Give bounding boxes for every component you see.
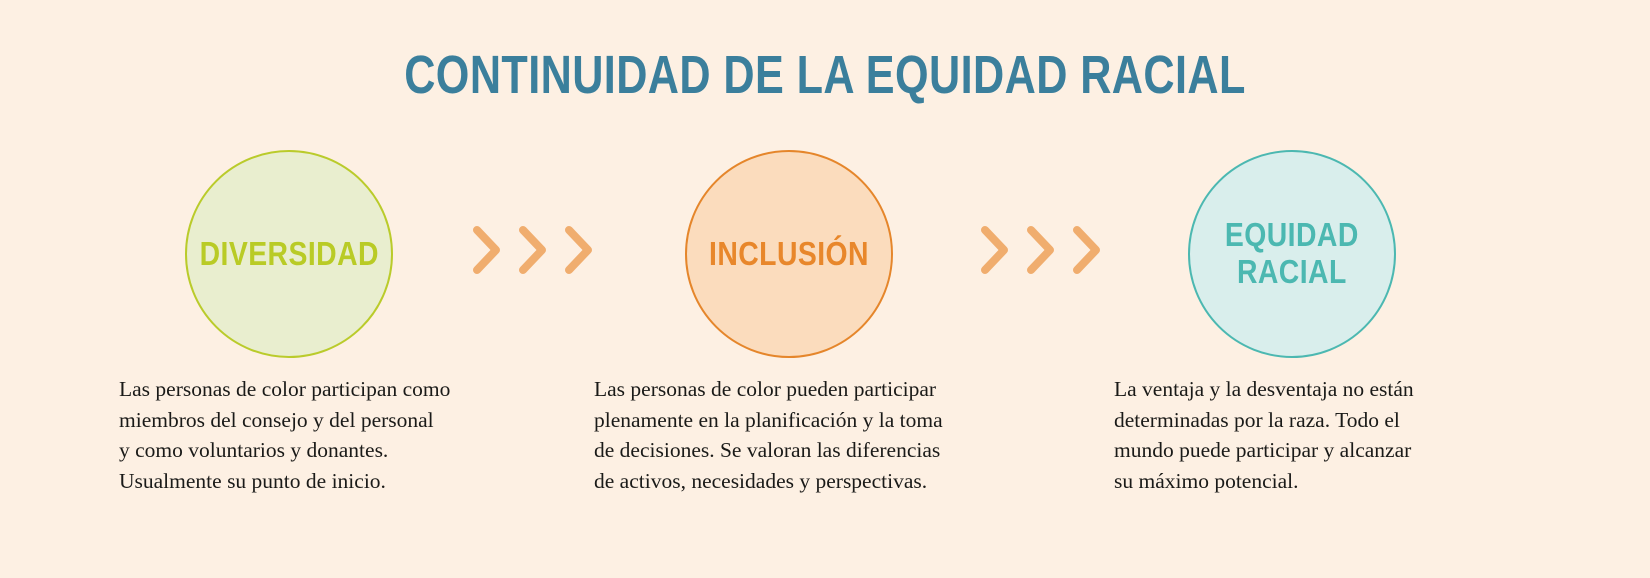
stage-label-inclusion: INCLUSIÓN: [709, 236, 869, 273]
page-title: CONTINUIDAD DE LA EQUIDAD RACIAL: [165, 48, 1485, 102]
stage-label-diversidad: DIVERSIDAD: [199, 236, 378, 273]
stage-label-equidad: EQUIDAD RACIAL: [1225, 217, 1359, 291]
chevron-right-icon: [470, 222, 504, 278]
stage-flow-row: DIVERSIDAD INCLUSIÓN: [0, 150, 1650, 360]
infographic-canvas: CONTINUIDAD DE LA EQUIDAD RACIAL DIVERSI…: [0, 0, 1650, 578]
chevron-right-icon: [516, 222, 550, 278]
chevron-right-icon: [562, 222, 596, 278]
connector-arrows-1: [470, 222, 596, 278]
stage-circle-diversidad: DIVERSIDAD: [185, 150, 393, 358]
chevron-right-icon: [1024, 222, 1058, 278]
chevron-right-icon: [1070, 222, 1104, 278]
stage-description-diversidad: Las personas de color participan como mi…: [119, 374, 519, 496]
stage-description-inclusion: Las personas de color pueden participar …: [594, 374, 994, 496]
stage-circle-equidad: EQUIDAD RACIAL: [1188, 150, 1396, 358]
chevron-right-icon: [978, 222, 1012, 278]
connector-arrows-2: [978, 222, 1104, 278]
stage-circle-inclusion: INCLUSIÓN: [685, 150, 893, 358]
stage-description-equidad: La ventaja y la desventaja no están dete…: [1114, 374, 1474, 496]
